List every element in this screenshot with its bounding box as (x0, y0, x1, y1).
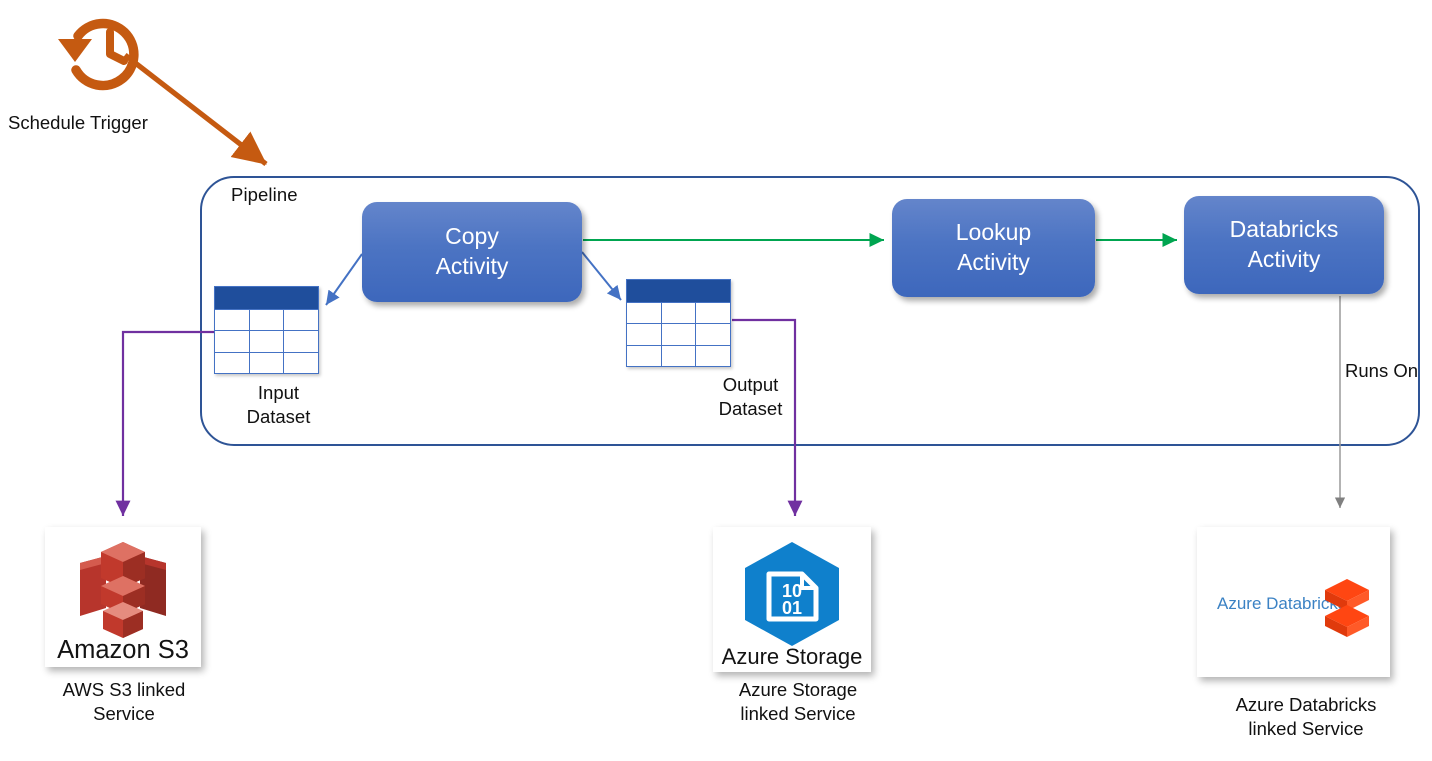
table-row (215, 353, 318, 373)
azure-databricks-linked-service-caption: Azure Databricks linked Service (1200, 693, 1412, 742)
table-header-row (215, 287, 318, 310)
table-cell (284, 331, 318, 351)
azure-storage-linked-service-caption: Azure Storage linked Service (700, 678, 896, 727)
databricks-activity-label: Databricks Activity (1230, 215, 1339, 275)
table-header-row (627, 280, 730, 303)
table-cell (627, 346, 662, 366)
table-cell (284, 353, 318, 373)
azure-storage-linked-service-tile[interactable]: 10 01 Azure Storage (713, 527, 871, 672)
table-cell (627, 303, 662, 323)
lookup-activity-node[interactable]: Lookup Activity (892, 199, 1095, 297)
table-cell (215, 331, 250, 351)
table-row (215, 331, 318, 352)
dataset-table-icon[interactable] (214, 286, 319, 374)
table-cell (696, 324, 730, 344)
azure-databricks-logo: Azure Databricks (1201, 531, 1386, 673)
table-cell (215, 353, 250, 373)
pipeline-label: Pipeline (231, 184, 298, 206)
table-row (627, 346, 730, 366)
table-row (627, 324, 730, 345)
azure-storage-logo: 10 01 Azure Storage (716, 530, 868, 670)
schedule-trigger-label: Schedule Trigger (8, 112, 198, 134)
table-cell (250, 353, 285, 373)
copy-activity-node[interactable]: Copy Activity (362, 202, 582, 302)
table-cell (662, 324, 697, 344)
aws-s3-linked-service-tile[interactable]: Amazon S3 (45, 527, 201, 667)
lookup-activity-label: Lookup Activity (956, 218, 1031, 278)
table-body (215, 310, 318, 373)
amazon-s3-wordmark: Amazon S3 (57, 636, 189, 664)
diagram-canvas: Pipeline (0, 0, 1432, 761)
azure-databricks-linked-service-tile[interactable]: Azure Databricks (1197, 527, 1390, 677)
aws-s3-linked-service-caption: AWS S3 linked Service (26, 678, 222, 727)
dataset-table-icon[interactable] (626, 279, 731, 367)
databricks-activity-node[interactable]: Databricks Activity (1184, 196, 1384, 294)
runs-on-label: Runs On (1345, 360, 1418, 382)
table-row (627, 303, 730, 324)
table-cell (662, 346, 697, 366)
input-dataset-caption: Input Dataset (206, 381, 351, 429)
table-cell (696, 303, 730, 323)
schedule-trigger-icon (48, 8, 150, 100)
output-dataset-caption: Output Dataset (678, 373, 823, 421)
copy-activity-label: Copy Activity (436, 222, 509, 282)
table-cell (696, 346, 730, 366)
table-cell (250, 331, 285, 351)
table-row (215, 310, 318, 331)
table-cell (627, 324, 662, 344)
azure-storage-wordmark: Azure Storage (722, 644, 863, 669)
table-cell (662, 303, 697, 323)
table-cell (215, 310, 250, 330)
table-cell (250, 310, 285, 330)
table-body (627, 303, 730, 366)
binary-digits-bottom: 01 (782, 598, 802, 618)
amazon-s3-logo: Amazon S3 (48, 530, 198, 664)
table-cell (284, 310, 318, 330)
